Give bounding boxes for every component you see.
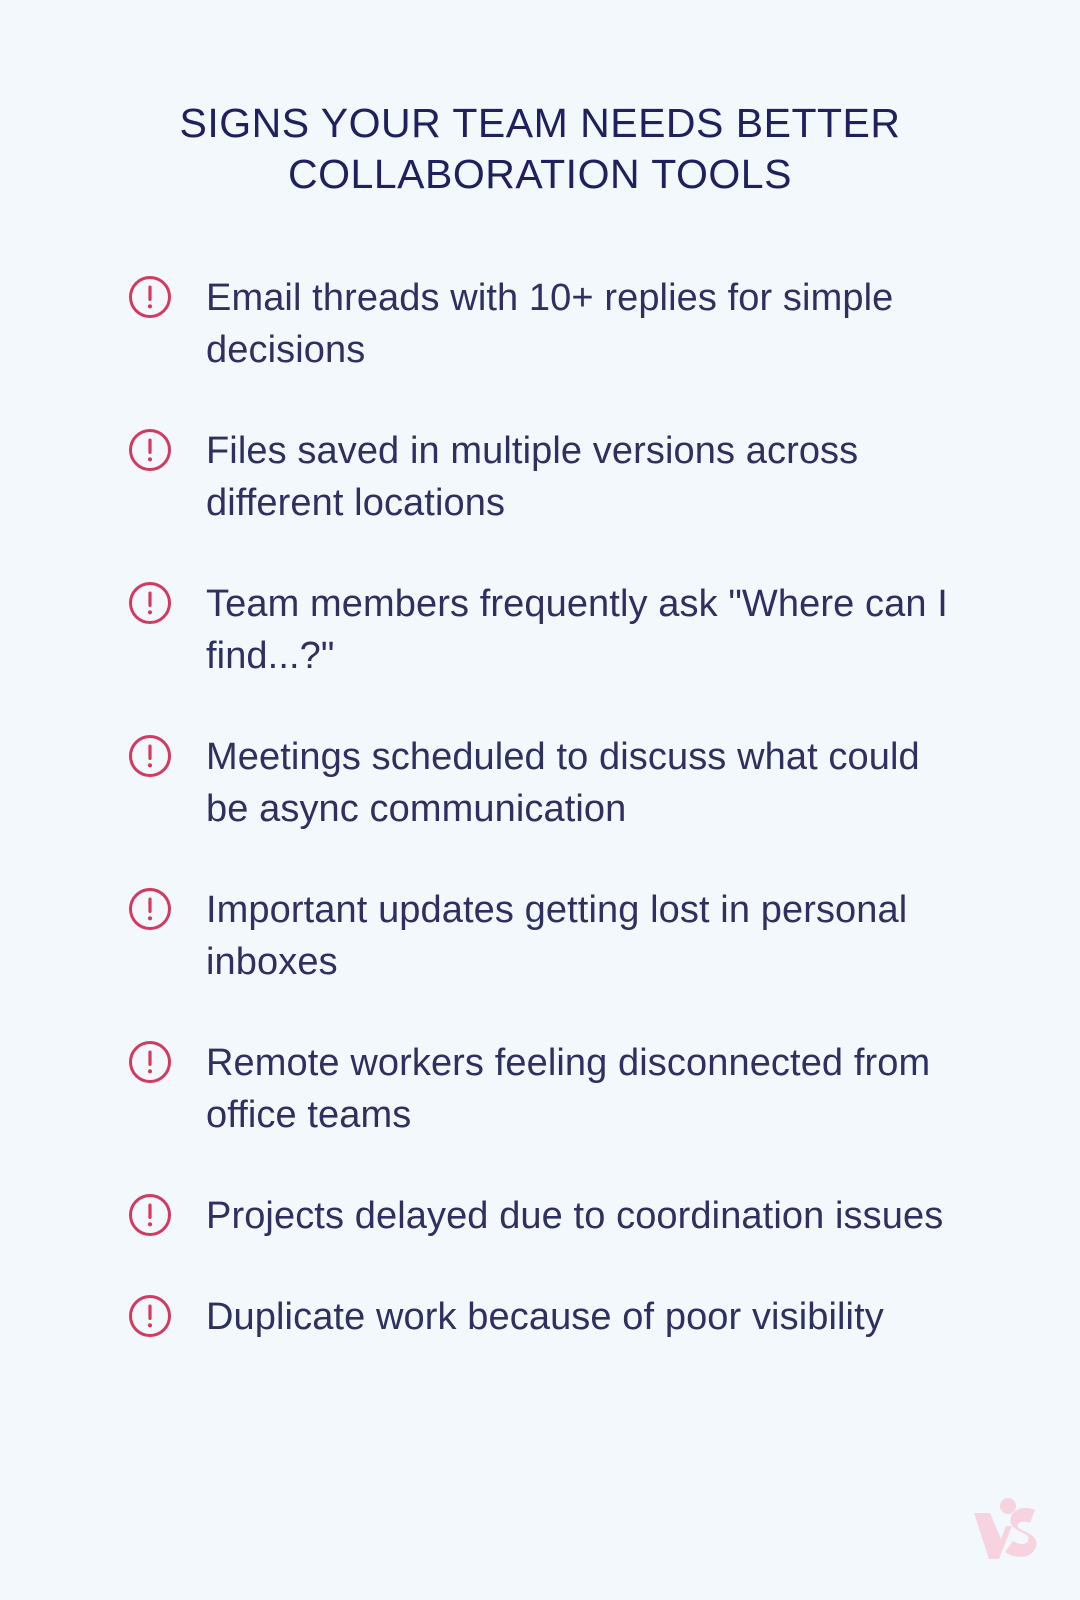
vs-monogram-logo-icon — [964, 1480, 1056, 1572]
alert-circle-icon — [128, 428, 172, 472]
alert-circle-icon — [128, 1193, 172, 1237]
list-item-text: Team members frequently ask "Where can I… — [206, 578, 952, 682]
list-item-text: Duplicate work because of poor visibilit… — [206, 1291, 952, 1343]
alert-circle-icon — [128, 887, 172, 931]
list-item-text: Remote workers feeling disconnected from… — [206, 1037, 952, 1141]
alert-circle-icon — [128, 734, 172, 778]
list-item: Remote workers feeling disconnected from… — [128, 1037, 952, 1141]
alert-circle-icon — [128, 275, 172, 319]
list-item: Important updates getting lost in person… — [128, 884, 952, 988]
list-item-text: Projects delayed due to coordination iss… — [206, 1190, 952, 1242]
alert-circle-icon — [128, 581, 172, 625]
list-item: Projects delayed due to coordination iss… — [128, 1190, 952, 1242]
list-item-text: Email threads with 10+ replies for simpl… — [206, 272, 952, 376]
list-item: Files saved in multiple versions across … — [128, 425, 952, 529]
page-title: SIGNS YOUR TEAM NEEDS BETTER COLLABORATI… — [110, 98, 970, 200]
poster-canvas: SIGNS YOUR TEAM NEEDS BETTER COLLABORATI… — [0, 0, 1080, 1600]
list-item: Email threads with 10+ replies for simpl… — [128, 272, 952, 376]
list-item: Meetings scheduled to discuss what could… — [128, 731, 952, 835]
title-block: SIGNS YOUR TEAM NEEDS BETTER COLLABORATI… — [0, 98, 1080, 200]
alert-circle-icon — [128, 1294, 172, 1338]
alert-circle-icon — [128, 1040, 172, 1084]
list-item-text: Meetings scheduled to discuss what could… — [206, 731, 952, 835]
list-item-text: Important updates getting lost in person… — [206, 884, 952, 988]
list-item: Duplicate work because of poor visibilit… — [128, 1291, 952, 1343]
signs-list: Email threads with 10+ replies for simpl… — [0, 272, 1080, 1343]
list-item-text: Files saved in multiple versions across … — [206, 425, 952, 529]
list-item: Team members frequently ask "Where can I… — [128, 578, 952, 682]
